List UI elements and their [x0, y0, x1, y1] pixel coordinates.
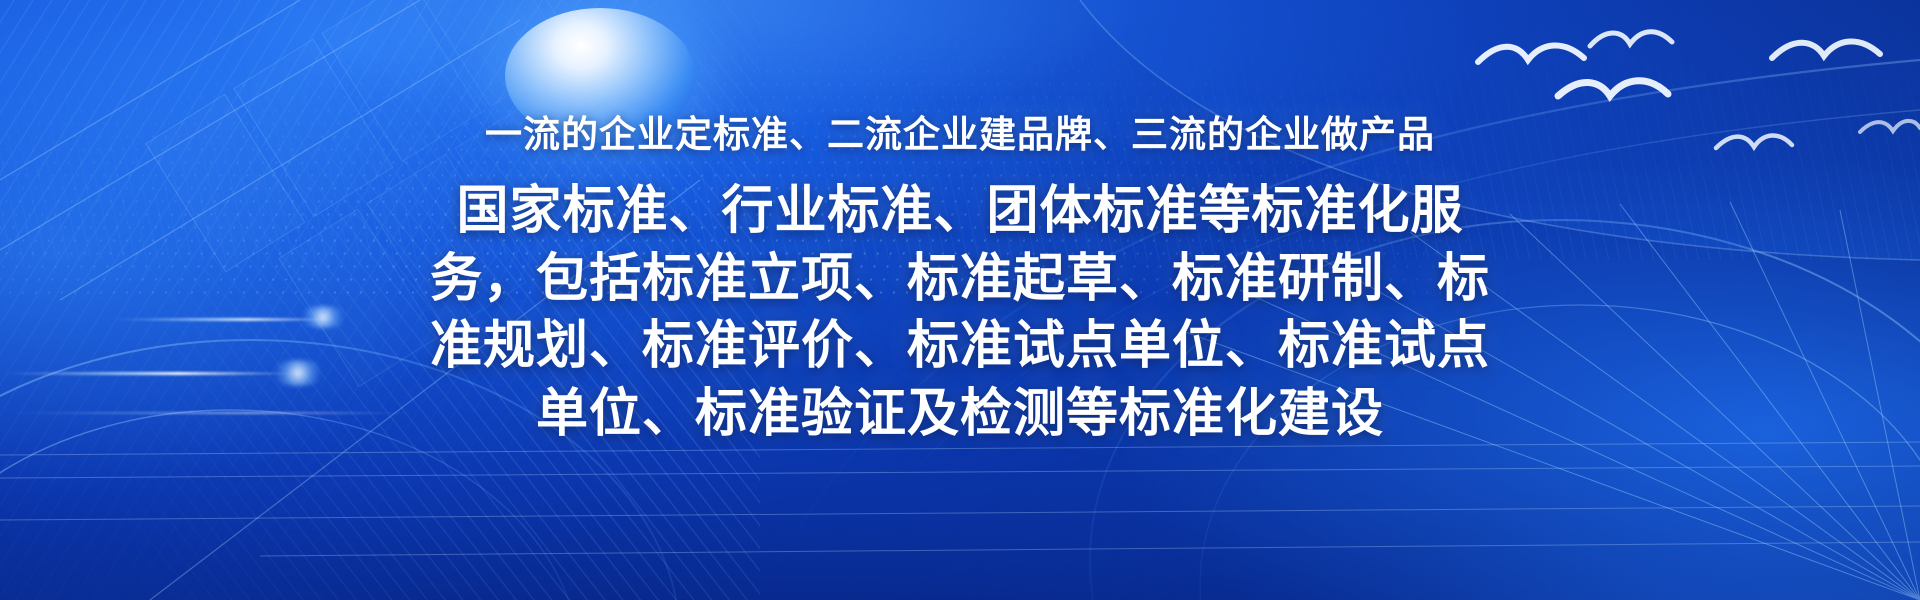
promo-banner: 一流的企业定标准、二流企业建品牌、三流的企业做产品 国家标准、行业标准、团体标准… — [0, 0, 1920, 600]
banner-content: 一流的企业定标准、二流企业建品牌、三流的企业做产品 国家标准、行业标准、团体标准… — [0, 0, 1920, 600]
banner-subtitle: 一流的企业定标准、二流企业建品牌、三流的企业做产品 — [485, 112, 1435, 158]
banner-headline: 国家标准、行业标准、团体标准等标准化服务，包括标准立项、标准起草、标准研制、标准… — [430, 178, 1490, 448]
